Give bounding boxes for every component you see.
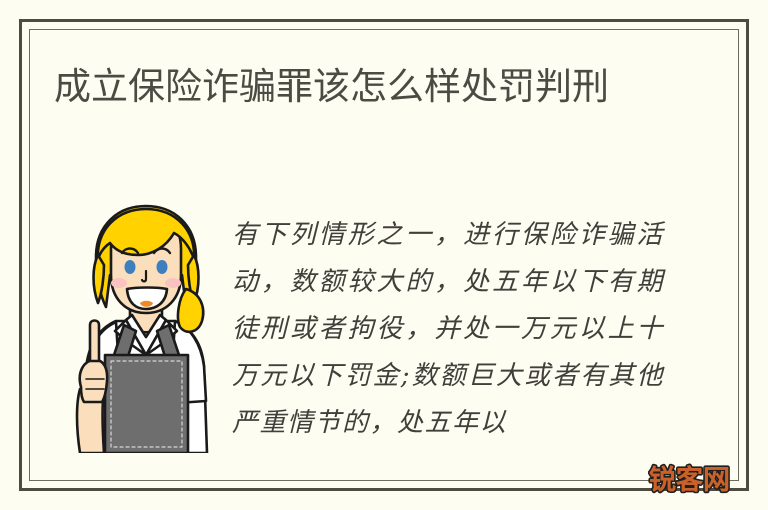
watermark-text-fill: 锐客网 [649,464,730,496]
page-title: 成立保险诈骗罪该怎么样处罚判刑 [54,60,674,114]
pointing-fist [80,360,107,402]
cheek-left [111,278,127,288]
cartoon-woman-graphic [74,203,220,453]
index-finger [90,321,99,362]
poster-canvas: 成立保险诈骗罪该怎么样处罚判刑 [0,0,768,510]
body-text: 有下列情形之一，进行保险诈骗活动，数额较大的，处五年以下有期徒刑或者拘役，并处一… [232,212,664,447]
eye-left [125,260,136,274]
watermark-graphic: 锐客网 锐客网 [648,462,752,496]
eye-right [157,260,168,274]
cheek-right [165,278,181,288]
ponytail [178,289,203,332]
cartoon-woman-illustration [74,203,220,453]
site-watermark: 锐客网 锐客网 [648,462,752,496]
apron-bib [105,355,188,453]
